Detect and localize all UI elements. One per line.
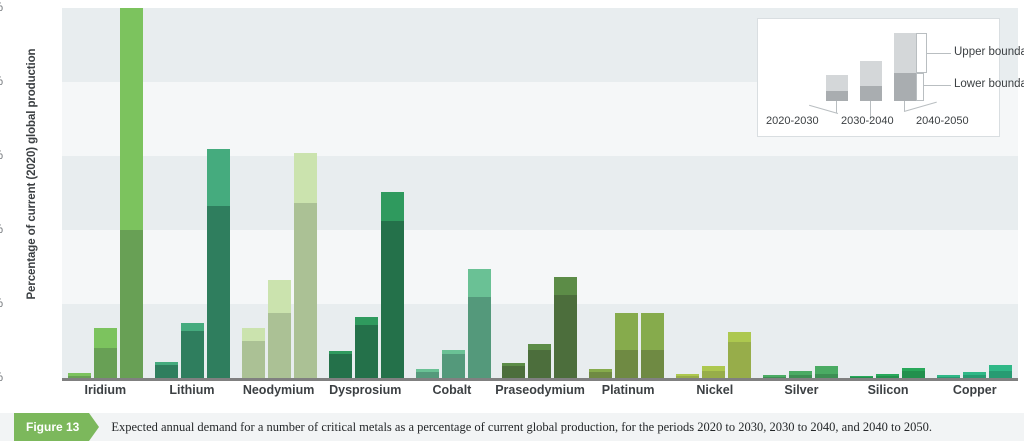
bar-upper-segment	[94, 328, 117, 349]
x-axis-label-praseodymium: Praseodymium	[495, 383, 585, 397]
bar-group-praseodymium	[497, 8, 584, 378]
bar-lower-segment	[554, 295, 577, 378]
figure-caption-text: Expected annual demand for a number of c…	[111, 420, 932, 435]
bar-praseodymium-2020-2030[interactable]	[502, 363, 525, 378]
x-axis-label-cobalt: Cobalt	[409, 383, 496, 397]
bar-lithium-2030-2040[interactable]	[181, 323, 204, 378]
y-axis-tick-label: 25%	[0, 2, 3, 14]
legend-bar-2020-2030	[826, 75, 848, 101]
bar-dysprosium-2030-2040[interactable]	[355, 317, 378, 378]
y-axis-tick-label: 15%	[0, 150, 3, 162]
figure-13: Percentage of current (2020) global prod…	[0, 0, 1024, 443]
legend-bar-2040-2050	[894, 33, 916, 101]
bar-nickel-2020-2030[interactable]	[676, 374, 699, 378]
bar-lower-segment	[242, 341, 265, 378]
bar-upper-segment	[554, 277, 577, 295]
bar-silver-2040-2050[interactable]	[815, 366, 838, 378]
bar-lower-segment	[641, 350, 664, 378]
bar-lower-segment	[381, 221, 404, 378]
chart-plot-area: Percentage of current (2020) global prod…	[0, 0, 1024, 404]
bar-praseodymium-2030-2040[interactable]	[528, 344, 551, 378]
y-axis-tick-label: 5%	[0, 298, 3, 310]
bar-silicon-2020-2030[interactable]	[850, 376, 873, 378]
bar-lower-segment	[94, 348, 117, 378]
bar-copper-2030-2040[interactable]	[963, 372, 986, 378]
bar-upper-segment	[242, 328, 265, 341]
legend-period-label-2040-2050: 2040-2050	[916, 115, 969, 127]
x-axis-label-neodymium: Neodymium	[235, 383, 322, 397]
bar-lower-segment	[329, 354, 352, 378]
bar-lower-segment	[181, 331, 204, 378]
figure-number-badge: Figure 13	[14, 413, 89, 441]
x-axis-labels: IridiumLithiumNeodymiumDysprosiumCobaltP…	[62, 383, 1018, 397]
bar-upper-segment	[355, 317, 378, 324]
bar-cobalt-2040-2050[interactable]	[468, 268, 491, 378]
bar-copper-2040-2050[interactable]	[989, 365, 1012, 378]
x-axis-label-nickel: Nickel	[671, 383, 758, 397]
bar-lower-segment	[815, 374, 838, 378]
x-axis-label-platinum: Platinum	[585, 383, 672, 397]
bar-lower-segment	[294, 203, 317, 378]
bar-upper-segment	[207, 149, 230, 207]
bar-lower-segment	[937, 377, 960, 378]
bar-lower-segment	[676, 376, 699, 378]
bar-silver-2030-2040[interactable]	[789, 371, 812, 378]
legend-bar-lower-segment	[826, 91, 848, 101]
x-axis-baseline	[62, 378, 1018, 381]
bar-lower-segment	[902, 371, 925, 378]
legend-bar-lower-segment	[860, 86, 882, 101]
bar-lithium-2020-2030[interactable]	[155, 362, 178, 378]
bar-lower-segment	[502, 366, 525, 378]
y-axis-tick-label: 20%	[0, 76, 3, 88]
upper-boundary-leader-line	[927, 53, 951, 54]
bar-lower-segment	[850, 377, 873, 378]
figure-caption-bar: Figure 13 Expected annual demand for a n…	[0, 413, 1024, 441]
legend-period-label-2030-2040: 2030-2040	[841, 115, 894, 127]
bar-silicon-2030-2040[interactable]	[876, 374, 899, 378]
lower-boundary-leader-line	[924, 85, 951, 86]
upper-boundary-label: Upper boundary	[954, 46, 1024, 58]
legend-bar-upper-segment	[894, 33, 916, 73]
bar-upper-segment	[268, 280, 291, 313]
bar-lower-segment	[120, 230, 143, 378]
legend-bar-2030-2040	[860, 61, 882, 101]
bar-iridium-2030-2040[interactable]	[94, 328, 117, 378]
legend-inset: Upper boundary Lower boundary 2020-2030 …	[757, 18, 1000, 137]
bar-group-dysprosium	[323, 8, 410, 378]
bar-copper-2020-2030[interactable]	[937, 375, 960, 378]
bar-cobalt-2020-2030[interactable]	[416, 369, 439, 378]
y-axis-title: Percentage of current (2020) global prod…	[26, 14, 38, 334]
bar-neodymium-2040-2050[interactable]	[294, 153, 317, 378]
bar-lower-segment	[155, 365, 178, 378]
bar-upper-segment	[120, 8, 143, 230]
bar-group-cobalt	[410, 8, 497, 378]
bar-group-nickel	[670, 8, 757, 378]
bar-upper-segment	[468, 269, 491, 297]
bar-lower-segment	[989, 371, 1012, 378]
bar-neodymium-2030-2040[interactable]	[268, 280, 291, 378]
x-axis-label-dysprosium: Dysprosium	[322, 383, 409, 397]
bar-lower-segment	[789, 375, 812, 378]
bar-upper-segment	[728, 332, 751, 342]
legend-bar-upper-segment	[826, 75, 848, 91]
legend-bar-upper-segment	[860, 61, 882, 86]
bar-group-neodymium	[236, 8, 323, 378]
bar-upper-segment	[615, 313, 638, 350]
bar-lower-segment	[268, 313, 291, 378]
bar-lower-segment	[763, 377, 786, 378]
bar-lithium-2040-2050[interactable]	[207, 149, 230, 378]
bar-platinum-2030-2040[interactable]	[615, 313, 638, 378]
bar-dysprosium-2020-2030[interactable]	[329, 351, 352, 378]
bar-lower-segment	[876, 376, 899, 378]
bar-group-platinum	[583, 8, 670, 378]
bar-lower-segment	[207, 206, 230, 378]
upper-boundary-bracket	[916, 33, 927, 73]
bar-lower-segment	[468, 297, 491, 378]
bar-nickel-2030-2040[interactable]	[702, 366, 725, 378]
period-leader-line-2020-2030	[836, 101, 837, 113]
bar-silicon-2040-2050[interactable]	[902, 368, 925, 378]
bar-lower-segment	[528, 350, 551, 378]
bar-cobalt-2030-2040[interactable]	[442, 350, 465, 378]
bar-upper-segment	[294, 153, 317, 203]
x-axis-label-lithium: Lithium	[149, 383, 236, 397]
lower-boundary-bracket	[916, 73, 924, 101]
bar-upper-segment	[641, 313, 664, 350]
bar-dysprosium-2040-2050[interactable]	[381, 192, 404, 378]
bar-lower-segment	[589, 372, 612, 378]
bar-upper-segment	[181, 323, 204, 330]
bar-group-iridium	[62, 8, 149, 378]
y-axis-tick-label: 0%	[0, 372, 3, 384]
lower-boundary-label: Lower boundary	[954, 78, 1024, 90]
bar-lower-segment	[68, 376, 91, 378]
legend-period-label-2020-2030: 2020-2030	[766, 115, 819, 127]
x-axis-label-silver: Silver	[758, 383, 845, 397]
y-axis-tick-label: 10%	[0, 224, 3, 236]
x-axis-label-silicon: Silicon	[845, 383, 932, 397]
bar-neodymium-2020-2030[interactable]	[242, 328, 265, 378]
x-axis-label-copper: Copper	[931, 383, 1018, 397]
bar-platinum-2020-2030[interactable]	[589, 369, 612, 378]
period-leader-line-2020-2030-diagonal	[809, 105, 838, 114]
bar-lower-segment	[615, 350, 638, 378]
bar-iridium-2020-2030[interactable]	[68, 373, 91, 378]
bar-lower-segment	[355, 325, 378, 378]
bar-lower-segment	[702, 371, 725, 378]
x-axis-label-iridium: Iridium	[62, 383, 149, 397]
bar-lower-segment	[442, 354, 465, 378]
bar-lower-segment	[416, 372, 439, 378]
bar-nickel-2040-2050[interactable]	[728, 332, 751, 378]
bar-lower-segment	[728, 342, 751, 378]
legend-bar-lower-segment	[894, 73, 916, 101]
bar-lower-segment	[963, 375, 986, 378]
bar-platinum-2040-2050[interactable]	[641, 313, 664, 378]
bar-iridium-2040-2050[interactable]	[120, 8, 143, 378]
bar-upper-segment	[815, 366, 838, 373]
bar-upper-segment	[381, 192, 404, 222]
bar-praseodymium-2040-2050[interactable]	[554, 277, 577, 378]
bar-group-lithium	[149, 8, 236, 378]
bar-silver-2020-2030[interactable]	[763, 375, 786, 378]
period-leader-line-2040-2050-diagonal	[904, 102, 937, 112]
